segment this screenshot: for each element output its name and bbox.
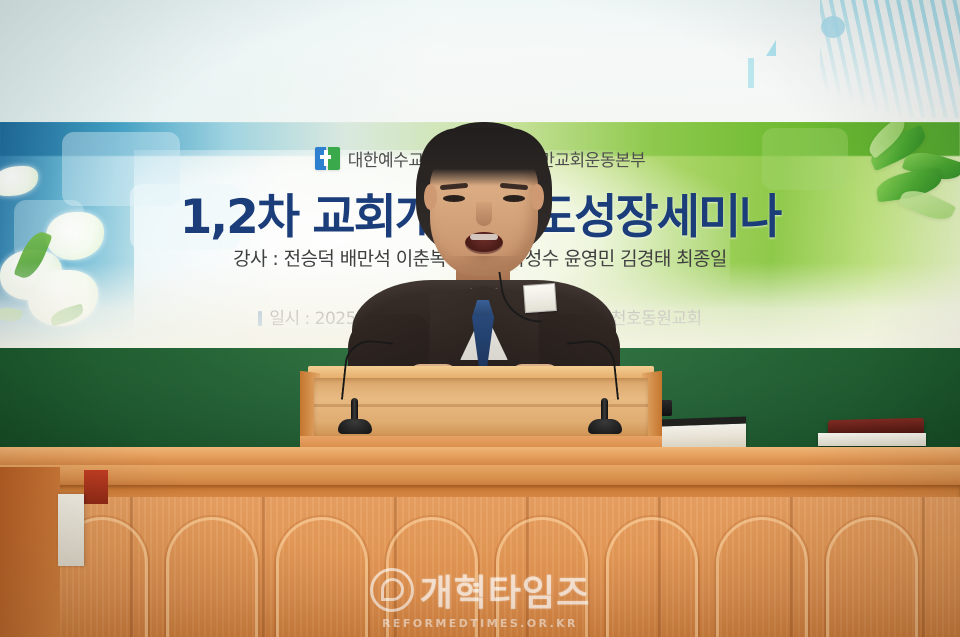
speaker-nose: [476, 202, 492, 226]
blue-circle-decoration: [821, 16, 845, 38]
gothic-arch-panel: [386, 517, 478, 637]
speaker-eye-right: [503, 195, 525, 202]
speaker-hair-front: [420, 128, 548, 186]
white-cloth-object: [58, 494, 84, 566]
speaker-figure: [352, 118, 616, 378]
speaker-ear-right: [531, 184, 544, 210]
speaker-mouth: [465, 232, 503, 254]
speaker-eye-left: [443, 195, 465, 202]
gothic-arch-panel: [716, 517, 808, 637]
speaker-name-badge: [523, 283, 557, 313]
diagonal-stripes-decoration: [820, 0, 960, 118]
pulpit-cap: [0, 465, 960, 487]
gothic-arch-panel: [606, 517, 698, 637]
microphone-left: [338, 414, 372, 434]
pulpit-front-panels: [0, 497, 960, 637]
pulpit-left-side: [0, 467, 60, 637]
screenshot-root: 대한예수교장로회 총회 자립만교회운동본부 1,2차 교회개척 인도성장세미나 …: [0, 0, 960, 637]
microphone-right: [588, 414, 622, 434]
triangle-decoration: [766, 40, 776, 56]
white-book-object: [818, 433, 926, 446]
gothic-arch-panel: [276, 517, 368, 637]
gothic-arch-panel: [826, 517, 918, 637]
stripe-accent-decoration: [748, 58, 754, 88]
red-panel-object: [84, 470, 108, 504]
pulpit-platform: [0, 447, 960, 637]
gothic-arch-panel: [166, 517, 258, 637]
upper-wall: [0, 0, 960, 122]
church-door-cross-icon: [315, 146, 340, 171]
wall-sheen: [0, 0, 960, 122]
speaker-ear-left: [424, 184, 437, 210]
gothic-arch-panel: [496, 517, 588, 637]
